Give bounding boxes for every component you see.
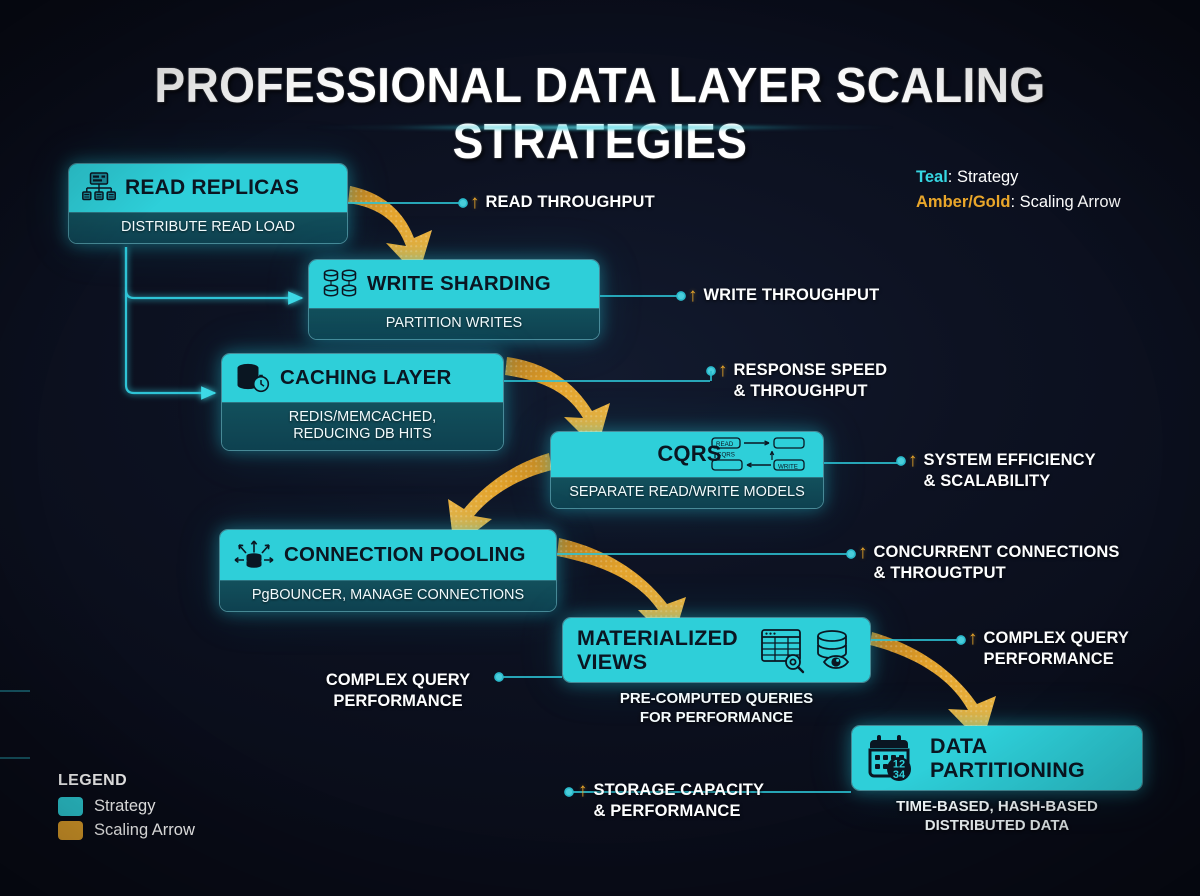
legend-amber-row: Amber/Gold: Scaling Arrow	[916, 190, 1121, 215]
legend-amber-key: Amber/Gold	[916, 193, 1010, 211]
card-header: WRITE SHARDING	[309, 260, 599, 308]
cqrs-flow-diagram-icon: CQRS READ WRITE	[711, 436, 811, 474]
benefit-label: READ THROUGHPUT	[486, 192, 655, 213]
data-partitioning-subtitle: TIME-BASED, HASH-BASED DISTRIBUTED DATA	[845, 798, 1149, 836]
legend-top-right: Teal: Strategy Amber/Gold: Scaling Arrow	[916, 165, 1121, 215]
legend-separator: :	[1010, 193, 1019, 211]
legend-amber-value: Scaling Arrow	[1020, 193, 1121, 211]
benefit-response-speed: ↑ RESPONSE SPEED & THROUGHPUT	[718, 360, 887, 401]
legend-item-strategy: Strategy	[58, 797, 195, 816]
svg-text:34: 34	[893, 769, 906, 781]
up-arrow-icon: ↑	[578, 781, 588, 800]
card-header: READ REPLICAS	[69, 164, 347, 212]
svg-text:CQRS: CQRS	[717, 451, 735, 458]
server-replica-tree-icon	[82, 171, 116, 205]
benefit-label: WRITE THROUGHPUT	[704, 285, 880, 306]
benefit-concurrent-connections: ↑ CONCURRENT CONNECTIONS & THROUGTPUT	[858, 542, 1120, 583]
card-title: WRITE SHARDING	[367, 273, 551, 294]
legend-swatch-teal	[58, 797, 83, 816]
card-header: 12 34 DATA PARTITIONING	[852, 726, 1142, 790]
svg-text:READ: READ	[716, 441, 734, 448]
legend-item-scaling-arrow: Scaling Arrow	[58, 821, 195, 840]
card-subtitle: DISTRIBUTE READ LOAD	[69, 212, 347, 243]
benefit-label: SYSTEM EFFICIENCY & SCALABILITY	[924, 450, 1096, 491]
card-write-sharding[interactable]: WRITE SHARDING PARTITION WRITES	[308, 259, 600, 340]
table-search-database-eye-icon	[760, 626, 856, 674]
svg-text:WRITE: WRITE	[778, 463, 798, 470]
card-title: DATA PARTITIONING	[930, 734, 1085, 782]
card-header: CONNECTION POOLING	[220, 530, 556, 580]
benefit-label: CONCURRENT CONNECTIONS & THROUGTPUT	[874, 542, 1120, 583]
legend-item-label: Scaling Arrow	[94, 821, 195, 840]
up-arrow-icon: ↑	[718, 361, 728, 380]
card-header: CACHING LAYER	[222, 354, 503, 402]
up-arrow-icon: ↑	[688, 286, 698, 305]
legend-heading: LEGEND	[58, 772, 195, 790]
legend-teal-key: Teal	[916, 168, 948, 186]
database-stopwatch-icon	[235, 361, 271, 395]
materialized-views-subtitle: PRE-COMPUTED QUERIES FOR PERFORMANCE	[562, 690, 871, 728]
card-materialized-views[interactable]: MATERIALIZED VIEWS	[562, 617, 871, 683]
legend-bottom-left: LEGEND Strategy Scaling Arrow	[58, 772, 195, 845]
card-subtitle: PgBOUNCER, MANAGE CONNECTIONS	[220, 580, 556, 611]
card-cqrs[interactable]: CQRS CQRS READ WRITE SEPARATE READ/WRITE	[550, 431, 824, 509]
benefit-write-throughput: ↑ WRITE THROUGHPUT	[688, 285, 879, 306]
legend-item-label: Strategy	[94, 797, 155, 816]
card-caching-layer[interactable]: CACHING LAYER REDIS/MEMCACHED, REDUCING …	[221, 353, 504, 451]
legend-teal-value: Strategy	[957, 168, 1018, 186]
card-subtitle: REDIS/MEMCACHED, REDUCING DB HITS	[222, 402, 503, 450]
card-read-replicas[interactable]: READ REPLICAS DISTRIBUTE READ LOAD	[68, 163, 348, 244]
up-arrow-icon: ↑	[968, 629, 978, 648]
database-connections-icon	[233, 537, 275, 573]
benefit-complex-query-performance-right: ↑ COMPLEX QUERY PERFORMANCE	[968, 628, 1129, 669]
benefit-label: STORAGE CAPACITY & PERFORMANCE	[594, 780, 765, 821]
benefit-label: COMPLEX QUERY PERFORMANCE	[984, 628, 1130, 669]
card-title: CONNECTION POOLING	[284, 544, 526, 565]
card-subtitle: PARTITION WRITES	[309, 308, 599, 339]
calendar-numbers-icon: 12 34	[866, 734, 916, 782]
benefit-storage-capacity: ↑ STORAGE CAPACITY & PERFORMANCE	[578, 780, 764, 821]
infographic-canvas: PROFESSIONAL DATA LAYER SCALING STRATEGI…	[0, 0, 1200, 896]
card-header: MATERIALIZED VIEWS	[563, 618, 870, 682]
benefit-read-throughput: ↑ READ THROUGHPUT	[470, 192, 655, 213]
benefit-label: RESPONSE SPEED & THROUGHPUT	[734, 360, 888, 401]
database-shards-icon	[322, 267, 358, 301]
up-arrow-icon: ↑	[470, 193, 480, 212]
card-title: CACHING LAYER	[280, 367, 452, 388]
legend-swatch-amber	[58, 821, 83, 840]
card-data-partitioning[interactable]: 12 34 DATA PARTITIONING	[851, 725, 1143, 791]
card-title: MATERIALIZED VIEWS	[577, 626, 738, 674]
card-title: READ REPLICAS	[125, 177, 299, 199]
up-arrow-icon: ↑	[908, 451, 918, 470]
up-arrow-icon: ↑	[858, 543, 868, 562]
legend-teal-row: Teal: Strategy	[916, 165, 1121, 190]
card-subtitle: SEPARATE READ/WRITE MODELS	[551, 477, 823, 508]
card-connection-pooling[interactable]: CONNECTION POOLING PgBOUNCER, MANAGE CON…	[219, 529, 557, 612]
benefit-system-efficiency: ↑ SYSTEM EFFICIENCY & SCALABILITY	[908, 450, 1096, 491]
legend-separator: :	[948, 168, 957, 186]
benefit-complex-query-performance-left: COMPLEX QUERY PERFORMANCE	[300, 670, 496, 711]
card-header: CQRS CQRS READ WRITE	[551, 432, 823, 477]
